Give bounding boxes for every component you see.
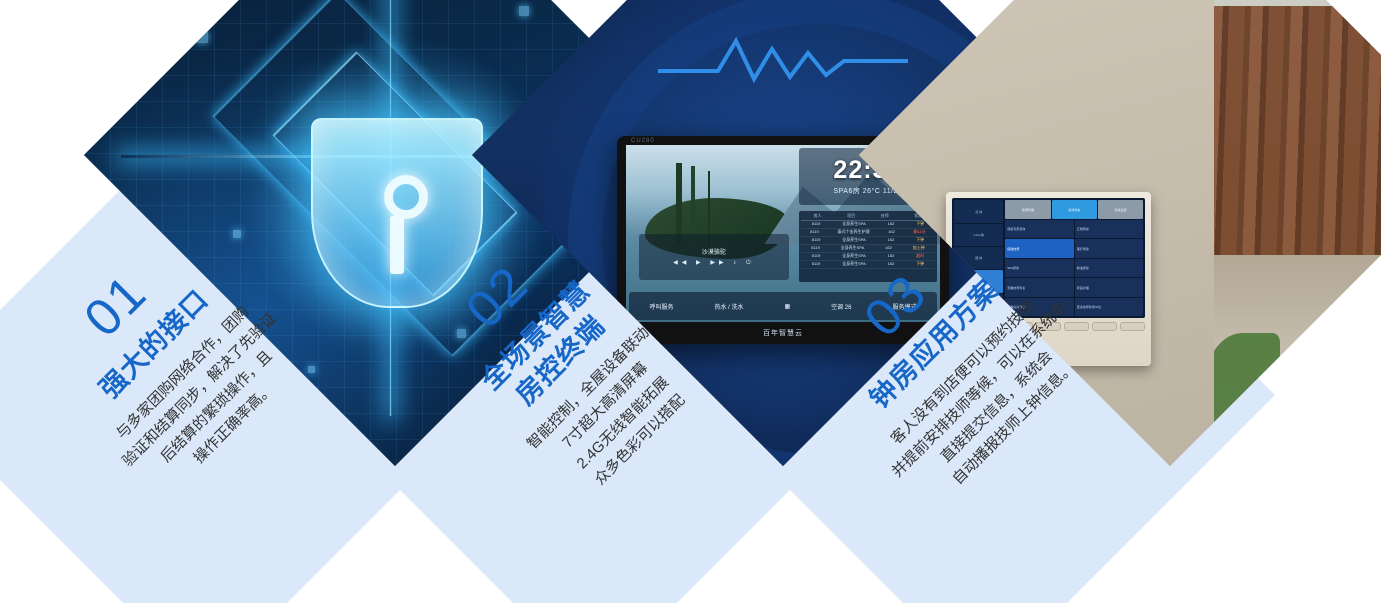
card-3-content: 03 钟房应用方案 客人没有到店便可以预约技师 并提前安排技师等候，可以在系统中… [780, 190, 1190, 600]
feature-diamond-banner: CU280 22:35 SPA6房 26°C 11/24 房人 项目 技师 [0, 0, 1381, 603]
pulse-wave-icon [658, 31, 908, 89]
wooden-partition [1189, 6, 1381, 255]
plant-small [1317, 382, 1375, 454]
